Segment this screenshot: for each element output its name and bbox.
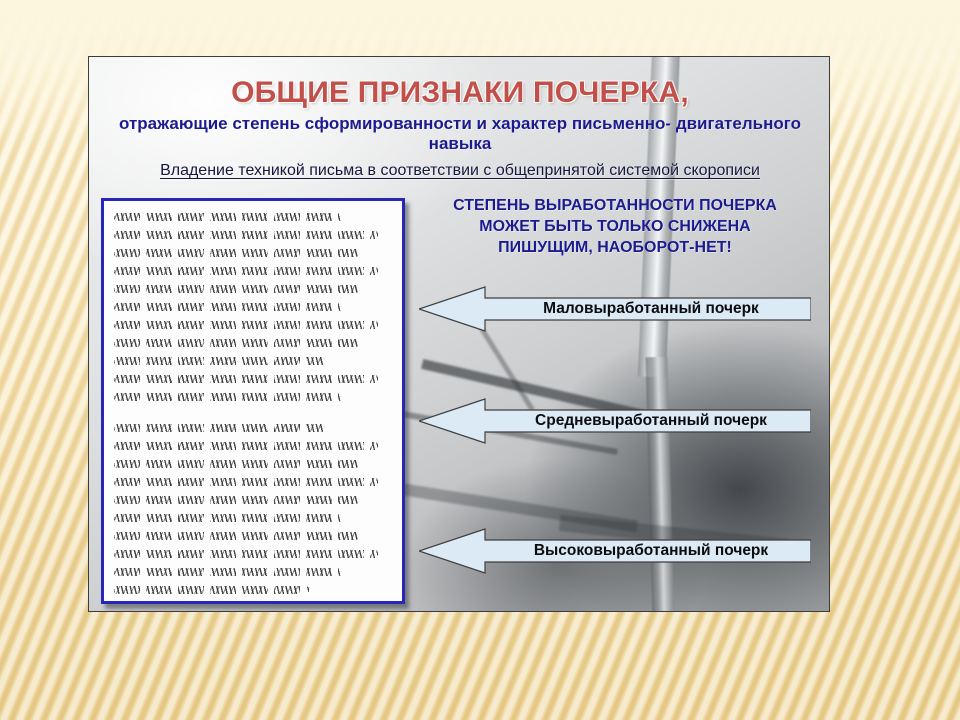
handwriting-line [114,209,392,224]
handwriting-paragraph [114,209,392,404]
statement-line-1: СТЕПЕНЬ ВЫРАБОТАННОСТИ ПОЧЕРКА [409,196,821,217]
handwriting-line [114,335,392,350]
slide-subtitle: отражающие степень сформированности и ха… [89,114,830,155]
handwriting-line [114,438,392,453]
arrow-high-skill: Высоковыработанный почерк [419,528,811,574]
handwriting-line [114,389,392,404]
statement-line-3: ПИШУЩИМ, НАОБОРОТ-НЕТ! [409,238,821,259]
handwriting-line [114,492,392,507]
arrow-medium-skill: Средневыработанный почерк [419,398,811,444]
handwriting-line [114,371,392,386]
slide-subtitle-line-1: отражающие степень сформированности и ха… [119,114,671,133]
handwriting-line [114,263,392,278]
arrow-low-skill-label: Маловыработанный почерк [419,300,811,318]
handwriting-line [114,245,392,260]
handwriting-line [114,227,392,242]
handwriting-line [114,456,392,471]
handwriting-line [114,420,392,435]
arrow-medium-skill-label: Средневыработанный почерк [419,412,811,430]
handwriting-line [114,281,392,296]
handwriting-line [114,510,392,525]
slide-heading-block: ОБЩИЕ ПРИЗНАКИ ПОЧЕРКА, отражающие степе… [89,77,830,180]
handwriting-line [114,582,392,597]
statement-block: СТЕПЕНЬ ВЫРАБОТАННОСТИ ПОЧЕРКА МОЖЕТ БЫТ… [409,196,821,258]
handwriting-line [114,546,392,561]
handwriting-paragraph [114,420,392,597]
presentation-slide: ОБЩИЕ ПРИЗНАКИ ПОЧЕРКА, отражающие степе… [88,56,830,612]
handwriting-line [114,299,392,314]
handwriting-line [114,474,392,489]
handwriting-sample-image [101,198,405,604]
handwriting-line [114,564,392,579]
arrow-low-skill: Маловыработанный почерк [419,286,811,332]
slide-page-background: ОБЩИЕ ПРИЗНАКИ ПОЧЕРКА, отражающие степе… [0,0,960,720]
slide-title: ОБЩИЕ ПРИЗНАКИ ПОЧЕРКА, [89,77,830,109]
slide-note: Владение техникой письма в соответствии … [89,162,830,180]
handwriting-line [114,317,392,332]
handwriting-canvas [104,201,402,601]
handwriting-line [114,528,392,543]
handwriting-line [114,353,392,368]
arrow-high-skill-label: Высоковыработанный почерк [419,542,811,560]
statement-line-2: МОЖЕТ БЫТЬ ТОЛЬКО СНИЖЕНА [409,217,821,238]
